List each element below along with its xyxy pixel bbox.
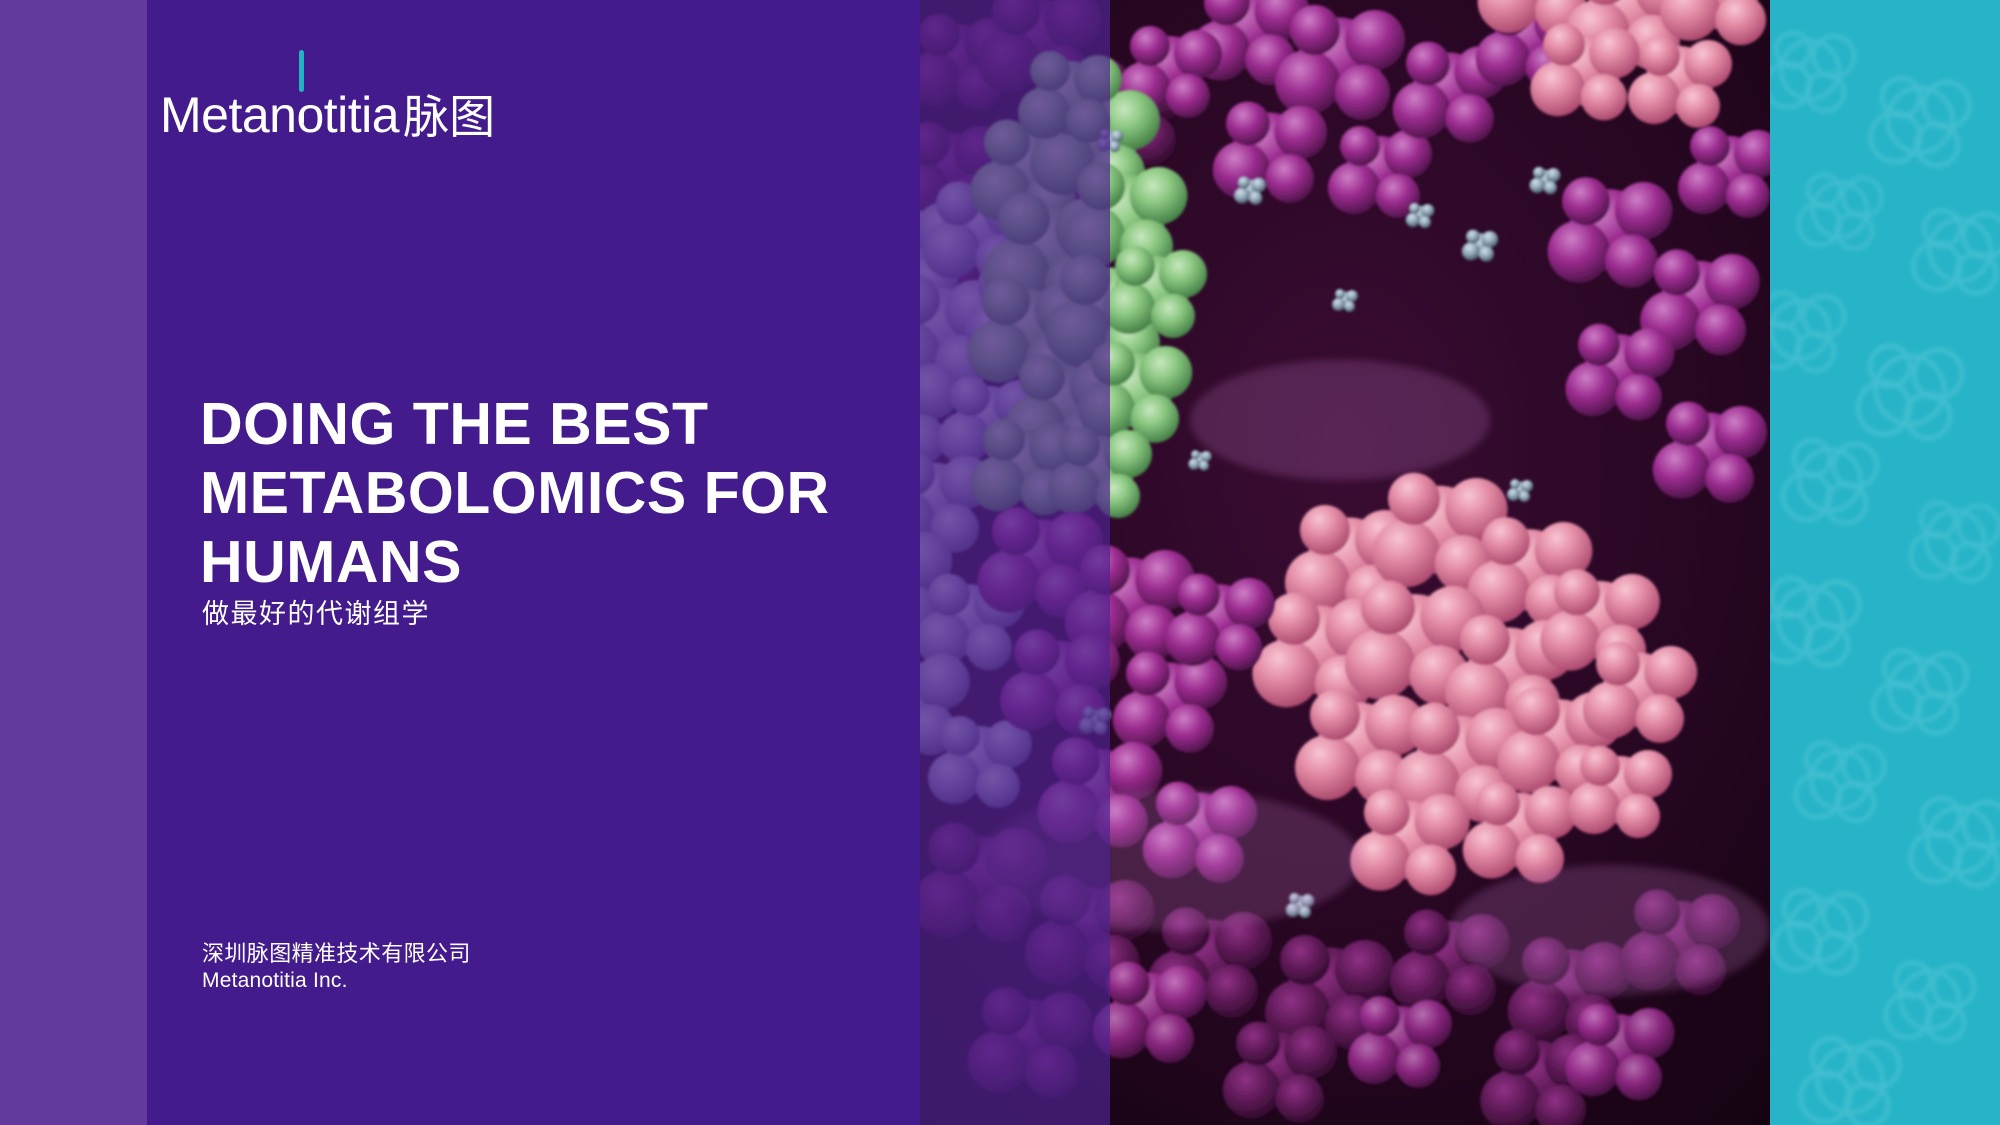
left-accent-strip	[0, 0, 147, 1125]
molecular-artwork-svg	[920, 0, 1770, 1125]
pin-marker-icon	[296, 50, 307, 124]
logo-chinese-text: 脉图	[403, 94, 495, 140]
headline-line-1: DOING THE BEST	[200, 390, 860, 459]
footer-company-en: Metanotitia Inc.	[202, 968, 471, 995]
logo-wordmark-text: Metanotitia	[160, 90, 399, 140]
footer-company-cn: 深圳脉图精准技术有限公司	[202, 940, 471, 968]
title-slide: Metanotitia 脉图 DOING THE BEST METABOLOMI…	[0, 0, 2000, 1125]
molecular-artwork	[920, 0, 1770, 1125]
headline-line-2: METABOLOMICS FOR	[200, 459, 860, 528]
headline-line-3: HUMANS	[200, 528, 860, 597]
page-title: DOING THE BEST METABOLOMICS FOR HUMANS	[200, 390, 860, 597]
footer-company-block: 深圳脉图精准技术有限公司 Metanotitia Inc.	[202, 940, 471, 995]
right-teal-panel	[1770, 0, 2000, 1125]
teal-panel-texture	[1770, 0, 2000, 1125]
subtitle-chinese: 做最好的代谢组学	[202, 598, 430, 630]
brand-logo[interactable]: Metanotitia 脉图	[160, 78, 495, 140]
